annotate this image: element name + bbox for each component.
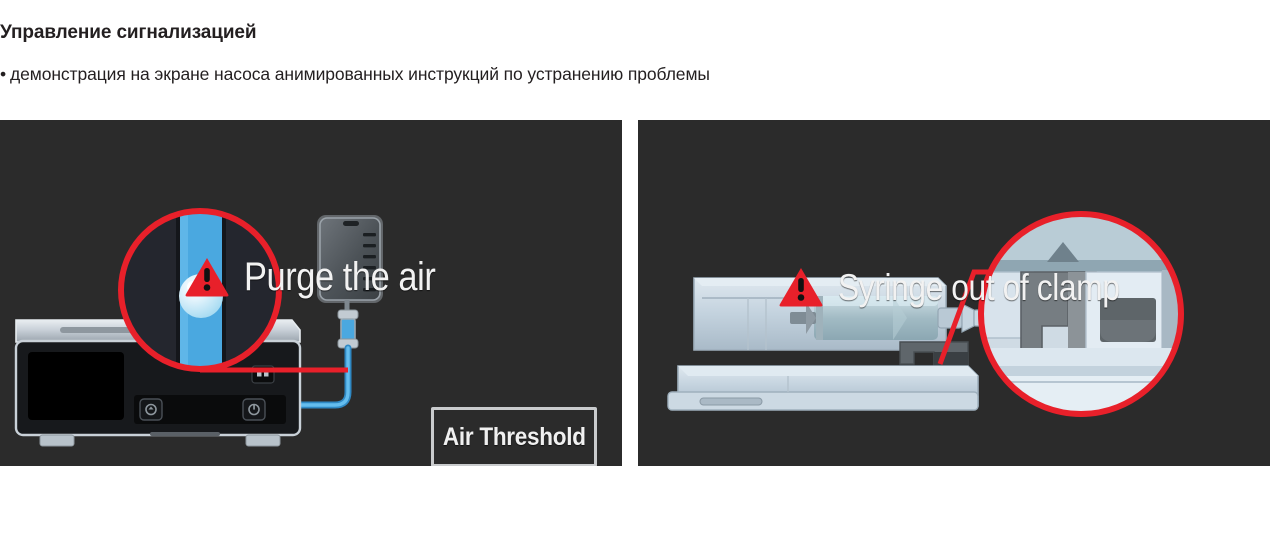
drip-chamber (338, 310, 358, 348)
panel-purge-air: Purge the air Air Threshold (0, 120, 622, 466)
bullet-text: демонстрация на экране насоса анимирован… (10, 64, 710, 84)
panel-title-purge-air: Purge the air (184, 256, 467, 298)
page-title: Управление сигнализацией (0, 22, 257, 44)
bullet-marker: • (0, 64, 6, 84)
panel-title-text: Syringe out of clamp (838, 269, 1119, 306)
air-threshold-label: Air Threshold (443, 423, 586, 452)
panel-title-text: Purge the air (244, 257, 435, 297)
panel-title-syringe-out-of-clamp: Syringe out of clamp (778, 266, 1165, 308)
bullet-line: •демонстрация на экране насоса анимирова… (0, 64, 710, 85)
air-threshold-button[interactable]: Air Threshold (431, 407, 597, 466)
magnifier-circle-clamp (981, 214, 1181, 414)
panel-syringe-out-of-clamp: Syringe out of clamp (638, 120, 1270, 466)
warning-triangle-icon (778, 266, 824, 308)
warning-triangle-icon (184, 256, 230, 298)
